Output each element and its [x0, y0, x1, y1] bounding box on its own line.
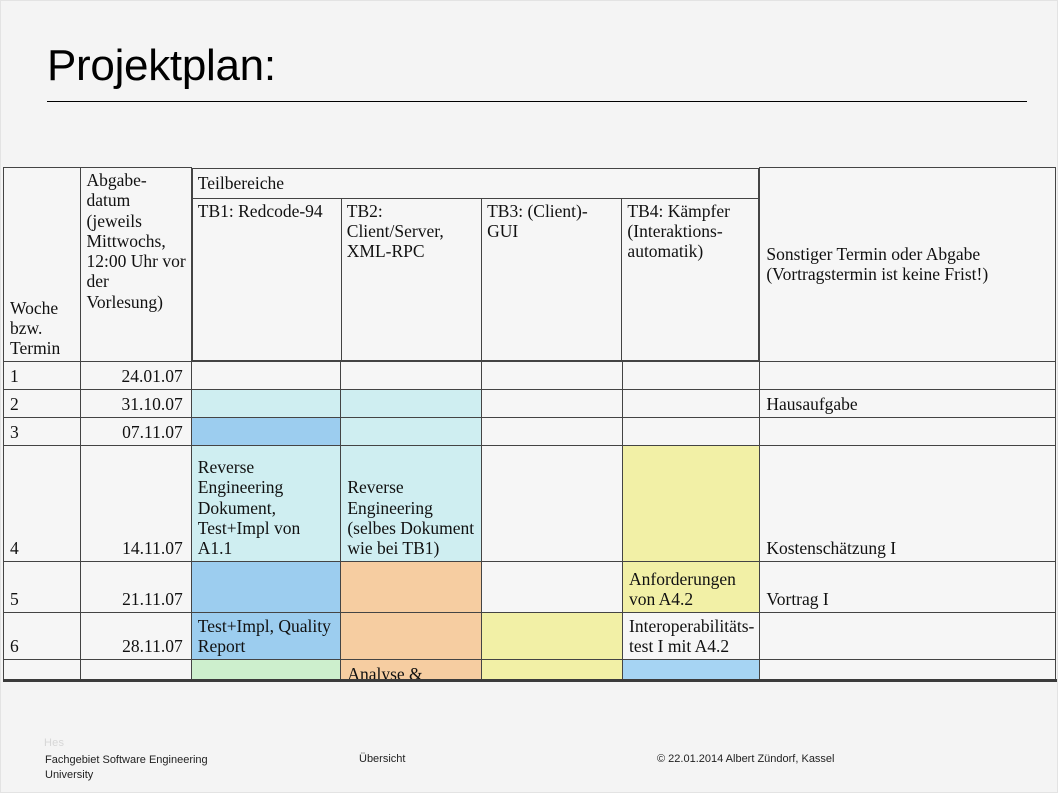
- project-plan-table: Woche bzw. Termin Abgabe-datum (jeweils …: [3, 167, 1056, 682]
- cell-week: 3: [4, 417, 81, 445]
- cell-date: 14.11.07: [80, 445, 191, 561]
- cell-tb4: [623, 361, 760, 389]
- table-row: 521.11.07Anforderungen von A4.2Vortrag I: [4, 561, 1056, 612]
- cell-date: 05.12.07: [80, 659, 191, 682]
- cell-tb1: [191, 361, 341, 389]
- cell-tb3: [482, 659, 623, 682]
- table-row: 628.11.07Test+Impl, Quality ReportIntero…: [4, 612, 1056, 659]
- cell-date: 28.11.07: [80, 612, 191, 659]
- cell-tb1: [191, 417, 341, 445]
- cell-week: 7: [4, 659, 81, 682]
- table-row: 705.12.07Analyse & Design: [4, 659, 1056, 682]
- slide-footer: Hes Fachgebiet Software Engineering Univ…: [1, 729, 1058, 789]
- footer-watermark: Hes: [44, 737, 64, 749]
- footer-copyright: © 22.01.2014 Albert Zündorf, Kassel: [657, 753, 1017, 765]
- cell-tb2: [341, 612, 482, 659]
- header-week: Woche bzw. Termin: [4, 168, 81, 362]
- footer-section-label: Übersicht: [359, 753, 559, 765]
- cell-other: [760, 612, 1056, 659]
- cell-tb1: [191, 389, 341, 417]
- table-row: 307.11.07: [4, 417, 1056, 445]
- cell-tb4: Anforderungen von A4.2: [623, 561, 760, 612]
- cell-other: Vortrag I: [760, 561, 1056, 612]
- cell-tb2: Analyse & Design: [341, 659, 482, 682]
- cell-date: 07.11.07: [80, 417, 191, 445]
- cell-week: 2: [4, 389, 81, 417]
- slide: Projektplan: Woche bzw. Termin Abgabe-da…: [0, 0, 1058, 793]
- cell-tb4: [623, 659, 760, 682]
- cell-other: Kostenschätzung I: [760, 445, 1056, 561]
- header-tb1: TB1: Redcode-94: [192, 198, 341, 360]
- cell-tb3: [482, 445, 623, 561]
- cell-other: [760, 659, 1056, 682]
- footer-affiliation: Fachgebiet Software Engineering Universi…: [45, 753, 345, 783]
- table-row: 124.01.07: [4, 361, 1056, 389]
- cell-tb2: [341, 561, 482, 612]
- cell-tb4: Interoperabilitäts-test I mit A4.2: [623, 612, 760, 659]
- title-divider: [47, 101, 1027, 102]
- cell-tb3: [482, 561, 623, 612]
- cell-tb4: [623, 389, 760, 417]
- cell-tb3: [482, 417, 623, 445]
- header-tb4: TB4: Kämpfer (Interaktions-automatik): [622, 198, 759, 360]
- cell-tb1: Test+Impl, Quality Report: [191, 612, 341, 659]
- cell-tb3: [482, 389, 623, 417]
- cell-tb1: [191, 561, 341, 612]
- cell-other: Hausaufgabe: [760, 389, 1056, 417]
- table-row: 414.11.07Reverse Engineering Dokument, T…: [4, 445, 1056, 561]
- cell-tb2: Reverse Engineering (selbes Dokument wie…: [341, 445, 482, 561]
- cell-tb4: [623, 445, 760, 561]
- cell-date: 24.01.07: [80, 361, 191, 389]
- page-title: Projektplan:: [47, 43, 1027, 89]
- cell-other: [760, 417, 1056, 445]
- header-tb3: TB3: (Client)-GUI: [482, 198, 622, 360]
- cell-tb3: [482, 361, 623, 389]
- project-plan-table-container: Woche bzw. Termin Abgabe-datum (jeweils …: [3, 167, 1057, 682]
- table-row: 231.10.07Hausaufgabe: [4, 389, 1056, 417]
- cell-week: 5: [4, 561, 81, 612]
- header-tb2: TB2: Client/Server, XML-RPC: [341, 198, 481, 360]
- cell-tb3: [482, 612, 623, 659]
- cell-tb1: Reverse Engineering Dokument, Test+Impl …: [191, 445, 341, 561]
- cell-tb4: [623, 417, 760, 445]
- cell-date: 31.10.07: [80, 389, 191, 417]
- footer-affiliation-line1: Fachgebiet Software Engineering: [45, 753, 345, 768]
- header-date: Abgabe-datum (jeweils Mittwochs, 12:00 U…: [80, 168, 191, 362]
- title-block: Projektplan:: [47, 43, 1027, 102]
- header-other: Sonstiger Termin oder Abgabe (Vortragste…: [760, 168, 1056, 362]
- header-teilbereiche-label: Teilbereiche: [192, 168, 759, 198]
- cell-tb2: [341, 361, 482, 389]
- cell-tb1: [191, 659, 341, 682]
- table-header-row: Woche bzw. Termin Abgabe-datum (jeweils …: [4, 168, 1056, 362]
- cell-week: 1: [4, 361, 81, 389]
- footer-affiliation-line2: University: [45, 768, 345, 783]
- cell-date: 21.11.07: [80, 561, 191, 612]
- cell-other: [760, 361, 1056, 389]
- header-teilbereiche-group: Teilbereiche TB1: Redcode-94 TB2: Client…: [191, 168, 760, 362]
- cell-week: 4: [4, 445, 81, 561]
- cell-tb2: [341, 389, 482, 417]
- cell-tb2: [341, 417, 482, 445]
- cell-week: 6: [4, 612, 81, 659]
